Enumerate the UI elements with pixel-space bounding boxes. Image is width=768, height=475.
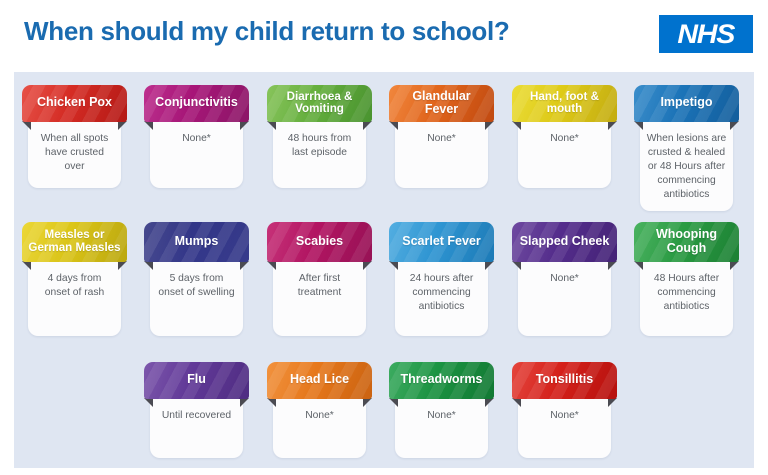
card-chicken-pox[interactable]: When all spots have crusted overChicken …	[22, 85, 127, 122]
card-advice-slapped-cheek: None*	[518, 261, 611, 336]
card-title-flu: Flu	[187, 373, 206, 386]
card-advice-diarrhoea-vomiting: 48 hours from last episode	[273, 121, 366, 188]
ribbon-fold-right-icon	[608, 121, 617, 130]
card-advice-glandular-fever: None*	[395, 121, 488, 188]
card-header-mumps: Mumps	[144, 222, 249, 262]
card-diarrhoea-vomiting[interactable]: 48 hours from last episodeDiarrhoea & Vo…	[267, 85, 372, 122]
nhs-logo: NHS	[659, 15, 753, 53]
card-title-glandular-fever: Glandular Fever	[394, 90, 489, 117]
card-header-chicken-pox: Chicken Pox	[22, 85, 127, 122]
card-advice-head-lice: None*	[273, 398, 366, 458]
card-header-scarlet-fever: Scarlet Fever	[389, 222, 494, 262]
ribbon-fold-left-icon	[512, 261, 521, 270]
ribbon-fold-left-icon	[389, 121, 398, 130]
card-header-glandular-fever: Glandular Fever	[389, 85, 494, 122]
card-threadworms[interactable]: None*Threadworms	[389, 362, 494, 399]
card-title-hand-foot-mouth: Hand, foot & mouth	[517, 91, 612, 116]
card-advice-tonsillitis: None*	[518, 398, 611, 458]
card-title-impetigo: Impetigo	[660, 96, 712, 109]
card-advice-scarlet-fever: 24 hours after commencing antibiotics	[395, 261, 488, 336]
ribbon-fold-right-icon	[730, 261, 739, 270]
ribbon-fold-right-icon	[730, 121, 739, 130]
ribbon-fold-left-icon	[22, 121, 31, 130]
ribbon-fold-left-icon	[267, 398, 276, 407]
card-header-whooping-cough: Whooping Cough	[634, 222, 739, 262]
ribbon-fold-left-icon	[634, 261, 643, 270]
ribbon-fold-right-icon	[240, 398, 249, 407]
card-title-whooping-cough: Whooping Cough	[639, 228, 734, 255]
ribbon-fold-left-icon	[267, 121, 276, 130]
ribbon-fold-right-icon	[485, 398, 494, 407]
ribbon-fold-right-icon	[608, 398, 617, 407]
ribbon-fold-right-icon	[485, 261, 494, 270]
ribbon-fold-left-icon	[144, 121, 153, 130]
card-glandular-fever[interactable]: None*Glandular Fever	[389, 85, 494, 122]
card-advice-mumps: 5 days from onset of swelling	[150, 261, 243, 336]
card-tonsillitis[interactable]: None*Tonsillitis	[512, 362, 617, 399]
cards-panel: When all spots have crusted overChicken …	[14, 72, 754, 468]
card-hand-foot-mouth[interactable]: None*Hand, foot & mouth	[512, 85, 617, 122]
ribbon-fold-right-icon	[363, 121, 372, 130]
card-header-flu: Flu	[144, 362, 249, 399]
ribbon-fold-left-icon	[144, 398, 153, 407]
card-advice-impetigo: When lesions are crusted & healed or 48 …	[640, 121, 733, 211]
card-title-head-lice: Head Lice	[290, 373, 349, 386]
card-scarlet-fever[interactable]: 24 hours after commencing antibioticsSca…	[389, 222, 494, 262]
ribbon-fold-left-icon	[512, 121, 521, 130]
ribbon-fold-right-icon	[240, 121, 249, 130]
card-title-chicken-pox: Chicken Pox	[37, 96, 112, 109]
card-advice-measles-german-measles: 4 days from onset of rash	[28, 261, 121, 336]
card-measles-german-measles[interactable]: 4 days from onset of rashMeasles or Germ…	[22, 222, 127, 262]
card-header-tonsillitis: Tonsillitis	[512, 362, 617, 399]
card-title-scarlet-fever: Scarlet Fever	[402, 235, 481, 248]
ribbon-fold-right-icon	[240, 261, 249, 270]
card-title-tonsillitis: Tonsillitis	[536, 373, 593, 386]
card-head-lice[interactable]: None*Head Lice	[267, 362, 372, 399]
page-title: When should my child return to school?	[24, 16, 510, 47]
nhs-logo-text: NHS	[678, 19, 735, 50]
card-header-slapped-cheek: Slapped Cheek	[512, 222, 617, 262]
ribbon-fold-right-icon	[118, 121, 127, 130]
card-flu[interactable]: Until recoveredFlu	[144, 362, 249, 399]
card-title-scabies: Scabies	[296, 235, 343, 248]
card-advice-hand-foot-mouth: None*	[518, 121, 611, 188]
ribbon-fold-left-icon	[634, 121, 643, 130]
page-header: When should my child return to school? N…	[0, 0, 768, 72]
card-title-mumps: Mumps	[175, 235, 219, 248]
card-advice-scabies: After first treatment	[273, 261, 366, 336]
card-header-hand-foot-mouth: Hand, foot & mouth	[512, 85, 617, 122]
ribbon-fold-right-icon	[118, 261, 127, 270]
ribbon-fold-left-icon	[267, 261, 276, 270]
card-title-slapped-cheek: Slapped Cheek	[520, 235, 610, 248]
card-advice-flu: Until recovered	[150, 398, 243, 458]
card-header-threadworms: Threadworms	[389, 362, 494, 399]
card-scabies[interactable]: After first treatmentScabies	[267, 222, 372, 262]
card-advice-whooping-cough: 48 Hours after commencing antibiotics	[640, 261, 733, 336]
card-title-conjunctivitis: Conjunctivitis	[155, 96, 238, 109]
card-header-measles-german-measles: Measles or German Measles	[22, 222, 127, 262]
infographic-root: When should my child return to school? N…	[0, 0, 768, 475]
card-title-measles-german-measles: Measles or German Measles	[27, 229, 122, 254]
ribbon-fold-right-icon	[363, 398, 372, 407]
ribbon-fold-left-icon	[389, 261, 398, 270]
ribbon-fold-left-icon	[144, 261, 153, 270]
ribbon-fold-right-icon	[363, 261, 372, 270]
card-header-diarrhoea-vomiting: Diarrhoea & Vomiting	[267, 85, 372, 122]
ribbon-fold-left-icon	[512, 398, 521, 407]
card-title-diarrhoea-vomiting: Diarrhoea & Vomiting	[272, 91, 367, 116]
card-header-conjunctivitis: Conjunctivitis	[144, 85, 249, 122]
card-advice-threadworms: None*	[395, 398, 488, 458]
card-mumps[interactable]: 5 days from onset of swellingMumps	[144, 222, 249, 262]
card-slapped-cheek[interactable]: None*Slapped Cheek	[512, 222, 617, 262]
card-advice-chicken-pox: When all spots have crusted over	[28, 121, 121, 188]
card-header-head-lice: Head Lice	[267, 362, 372, 399]
card-impetigo[interactable]: When lesions are crusted & healed or 48 …	[634, 85, 739, 122]
ribbon-fold-right-icon	[485, 121, 494, 130]
card-advice-conjunctivitis: None*	[150, 121, 243, 188]
card-header-scabies: Scabies	[267, 222, 372, 262]
ribbon-fold-right-icon	[608, 261, 617, 270]
card-whooping-cough[interactable]: 48 Hours after commencing antibioticsWho…	[634, 222, 739, 262]
card-title-threadworms: Threadworms	[401, 373, 483, 386]
card-conjunctivitis[interactable]: None*Conjunctivitis	[144, 85, 249, 122]
ribbon-fold-left-icon	[22, 261, 31, 270]
ribbon-fold-left-icon	[389, 398, 398, 407]
card-header-impetigo: Impetigo	[634, 85, 739, 122]
